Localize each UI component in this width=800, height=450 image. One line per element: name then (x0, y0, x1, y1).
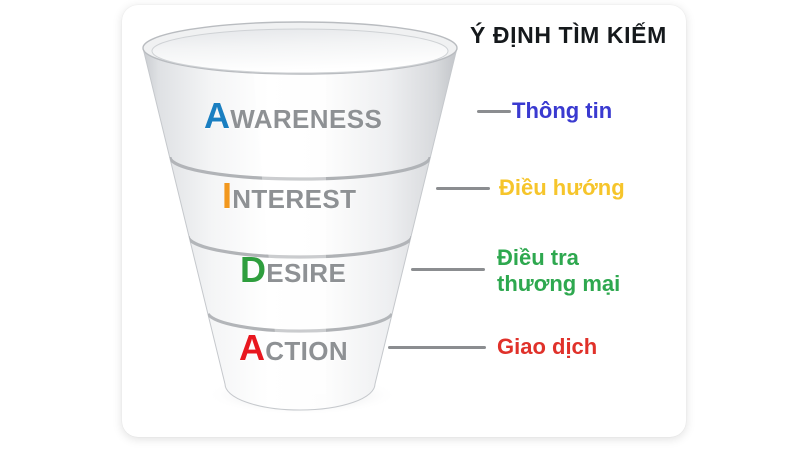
side-label-giao-dich: Giao dịch (497, 334, 597, 360)
funnel-stage-desire: DESIRE (240, 252, 346, 288)
stage-rest-action: CTION (265, 336, 348, 366)
stage-initial-a-action: A (239, 327, 265, 368)
leader-line-dieu-huong (436, 187, 490, 190)
leader-line-dieu-tra (411, 268, 485, 271)
stage-rest-desire: ESIRE (266, 258, 346, 288)
funnel-stage-interest: INTEREST (222, 178, 356, 214)
stage-rest-interest: NTEREST (232, 184, 356, 214)
funnel-stage-awareness: AWARENESS (204, 98, 382, 134)
funnel-stage-action: ACTION (239, 330, 348, 366)
leader-line-thong-tin (477, 110, 511, 113)
diagram-title: Ý ĐỊNH TÌM KIẾM (470, 22, 667, 49)
funnel-rim-inner (152, 29, 448, 73)
side-label-dieu-tra-line2: thương mại (497, 271, 620, 297)
leader-line-giao-dich (388, 346, 486, 349)
side-label-thong-tin: Thông tin (512, 98, 612, 124)
side-label-dieu-huong: Điều hướng (499, 175, 625, 201)
stage-initial-i-interest: I (222, 175, 232, 216)
diagram-canvas: AWARENESS INTEREST DESIRE ACTION Ý ĐỊNH … (0, 0, 800, 450)
side-label-dieu-tra-thuong-mai: Điều tra thương mại (497, 245, 620, 297)
stage-rest-awareness: WARENESS (230, 104, 382, 134)
stage-initial-a-awareness: A (204, 95, 230, 136)
stage-initial-d-desire: D (240, 249, 266, 290)
side-label-dieu-tra-line1: Điều tra (497, 245, 579, 270)
